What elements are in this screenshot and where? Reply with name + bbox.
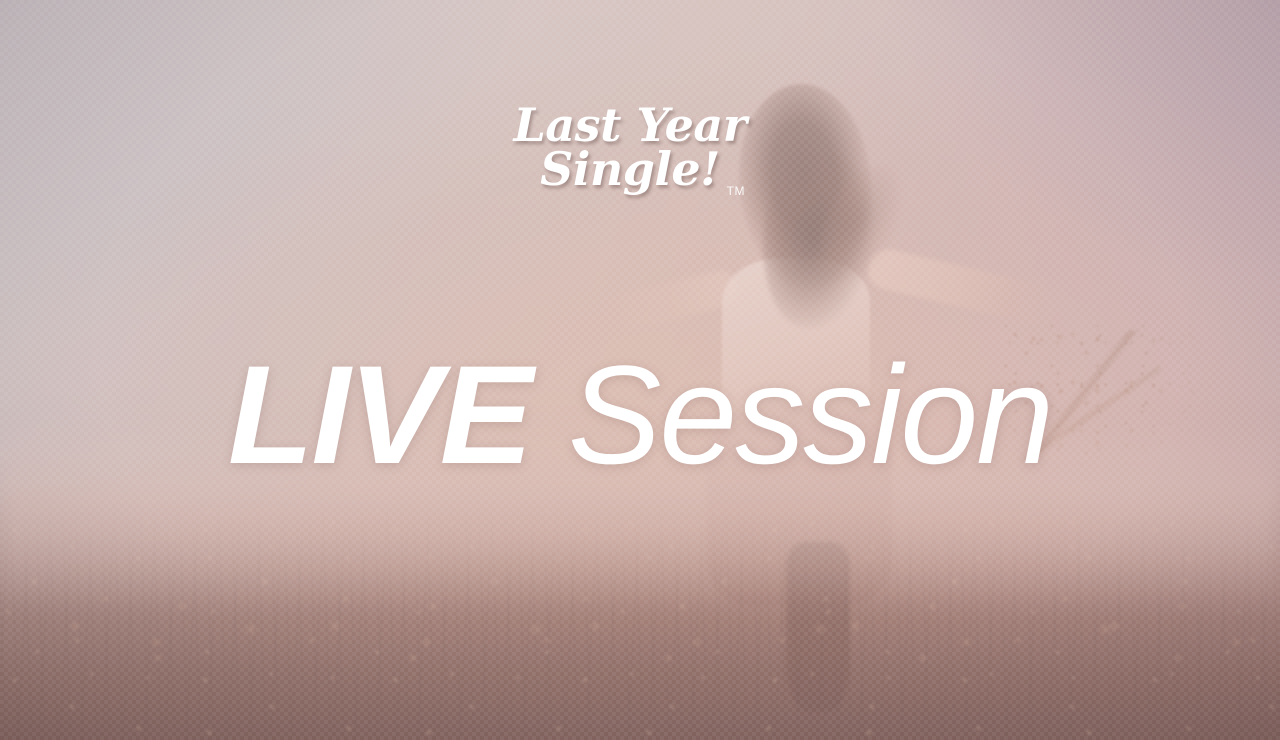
trademark-symbol: TM xyxy=(727,186,745,197)
brand-logo-lockup: Last Year Single! TM xyxy=(497,104,763,191)
live-session-banner: Last Year Single! TM LIVE Session xyxy=(0,0,1280,740)
figure-right-arm xyxy=(864,246,1054,327)
headline-word-session: Session xyxy=(568,336,1052,493)
headline-space xyxy=(531,336,568,493)
headline-word-live: LIVE xyxy=(228,336,531,493)
brand-name-line-2-wrap: Single! TM xyxy=(497,148,763,190)
brand-name-line-2: Single! xyxy=(540,142,720,196)
headline-live-session: LIVE Session xyxy=(0,345,1280,485)
brand-name-line-1: Last Year xyxy=(497,104,763,146)
